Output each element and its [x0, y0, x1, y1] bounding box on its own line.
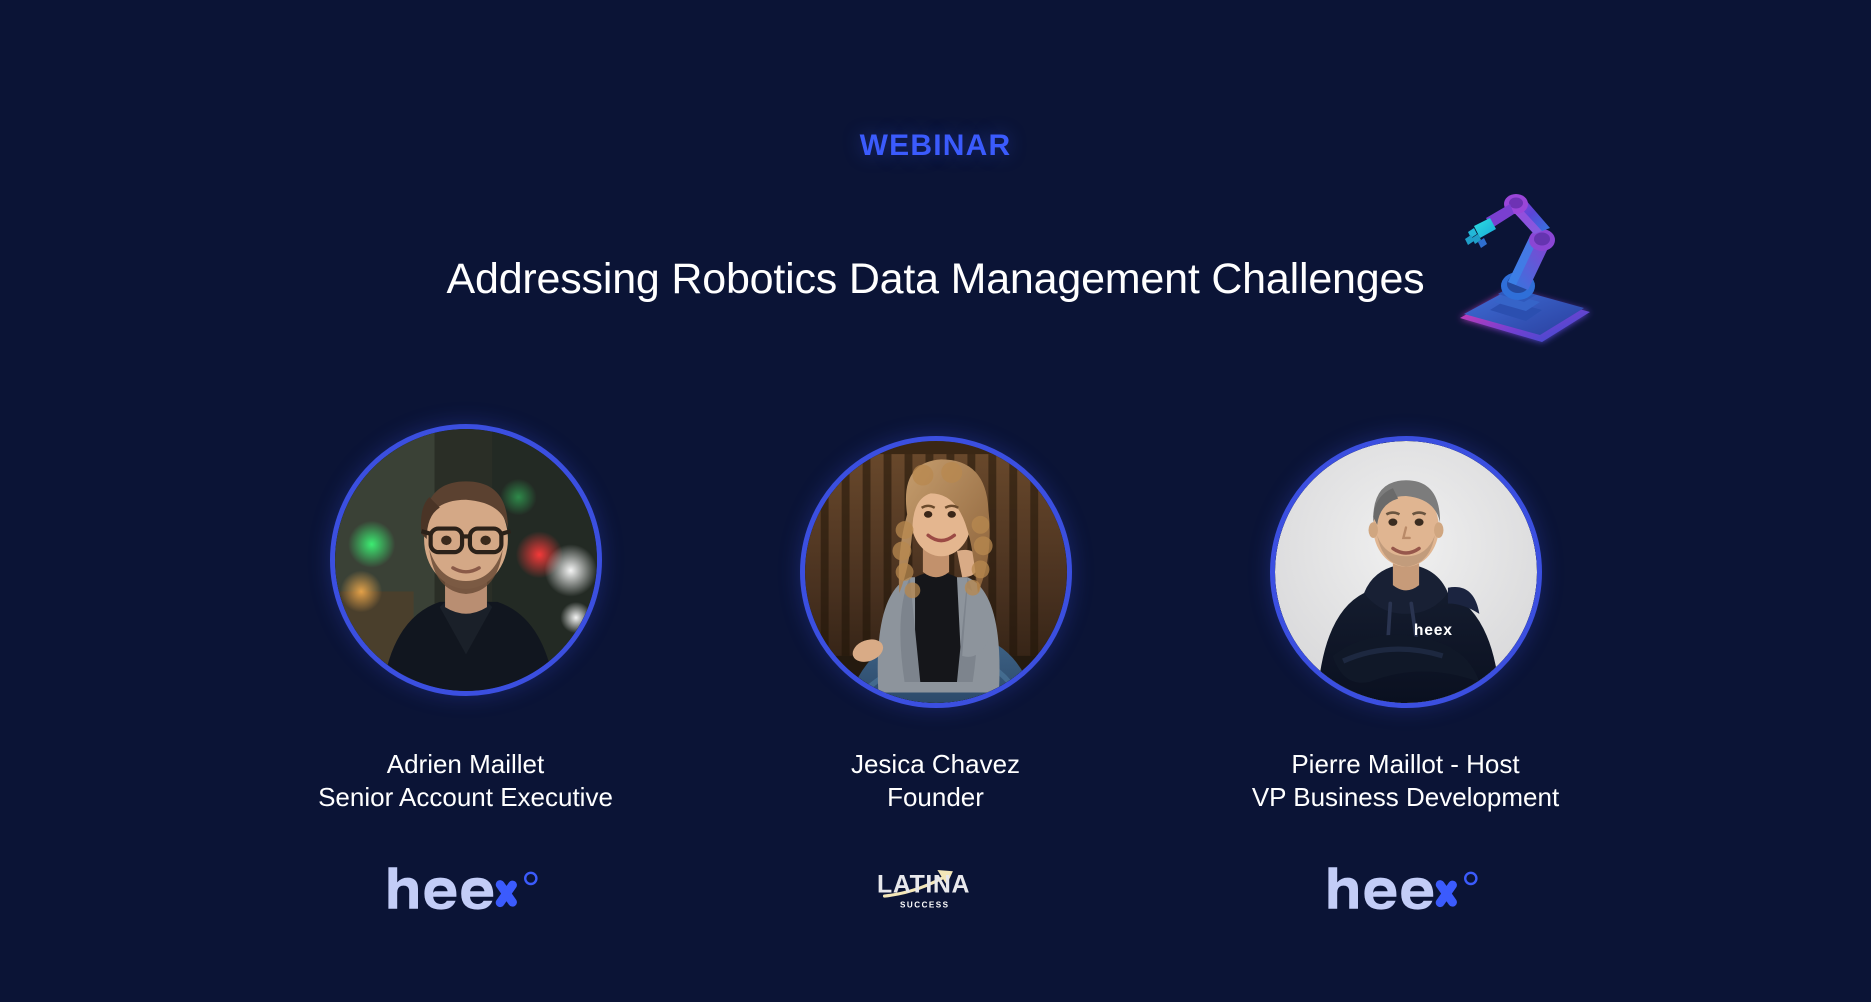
heex-logo — [382, 852, 550, 924]
speaker-card-3: heex — [1171, 436, 1641, 924]
latina-success-logo: LATINA SUCCESS — [873, 852, 998, 924]
speaker-name: Adrien Maillet — [318, 748, 613, 781]
svg-text:SUCCESS: SUCCESS — [900, 900, 950, 909]
speaker-card-2: Jesica Chavez Founder LATINA SUCCESS — [701, 436, 1171, 924]
robot-arm-icon — [1438, 178, 1610, 350]
webinar-promo-slide: WEBINAR Addressing Robotics Data Managem… — [0, 0, 1871, 1002]
avatar: heex — [1270, 436, 1542, 708]
speaker-info: Adrien Maillet Senior Account Executive — [318, 748, 613, 814]
speaker-card-1: Adrien Maillet Senior Account Executive — [231, 424, 701, 924]
svg-text:LATINA: LATINA — [877, 870, 970, 898]
speaker-role: Senior Account Executive — [318, 781, 613, 814]
avatar — [330, 424, 602, 696]
speaker-role: VP Business Development — [1252, 781, 1559, 814]
speaker-role: Founder — [851, 781, 1020, 814]
speaker-name: Pierre Maillot - Host — [1252, 748, 1559, 781]
avatar — [800, 436, 1072, 708]
speakers-row: Adrien Maillet Senior Account Executive — [0, 424, 1871, 924]
speaker-info: Pierre Maillot - Host VP Business Develo… — [1252, 748, 1559, 814]
heex-logo — [1322, 852, 1490, 924]
speaker-name: Jesica Chavez — [851, 748, 1020, 781]
page-title: Addressing Robotics Data Management Chal… — [447, 254, 1425, 306]
svg-text:heex: heex — [1413, 622, 1452, 639]
eyebrow-label: WEBINAR — [0, 129, 1871, 163]
speaker-info: Jesica Chavez Founder — [851, 748, 1020, 814]
